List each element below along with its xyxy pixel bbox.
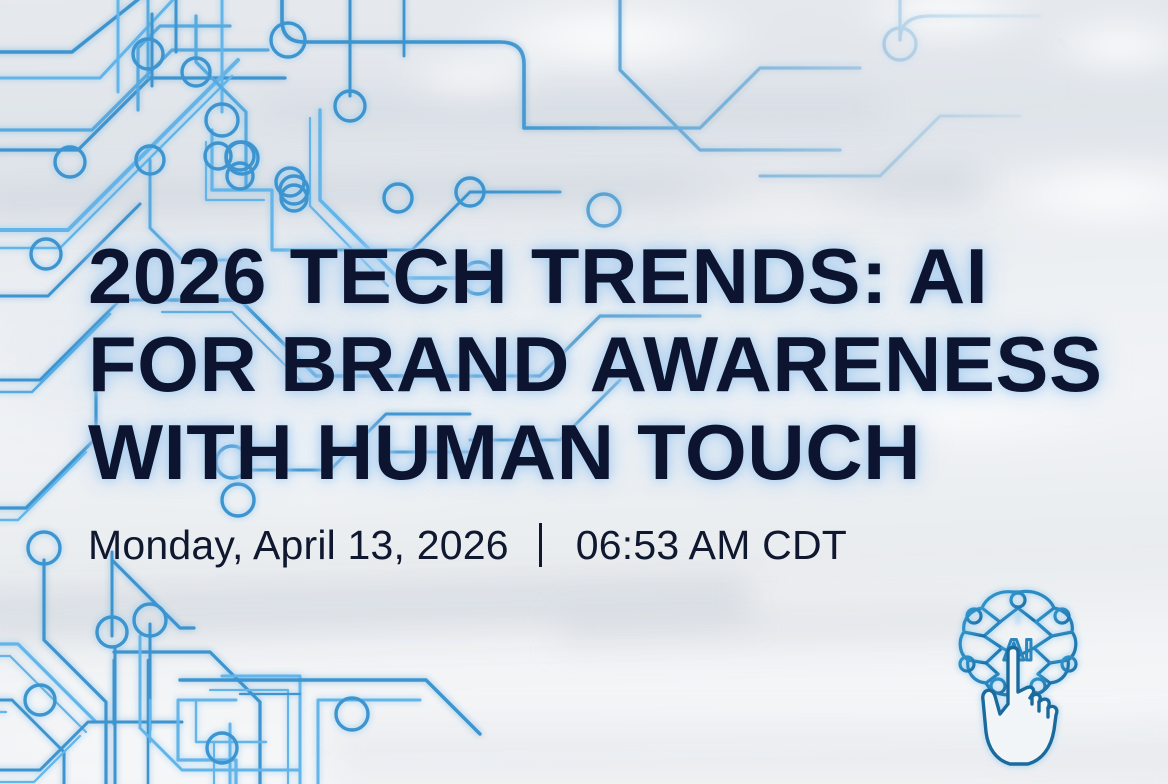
datetime-separator <box>539 523 542 567</box>
ai-brain-hand-icon: AI <box>950 578 1090 768</box>
tech-trends-banner: 2026 Tech Trends: AI For Brand Awareness… <box>0 0 1168 784</box>
headline-line-3: With Human Touch <box>88 408 1139 496</box>
banner-content: 2026 Tech Trends: AI For Brand Awareness… <box>88 232 1118 568</box>
datetime-line: Monday, April 13, 2026 06:53 AM CDT <box>88 522 1118 568</box>
date-text: Monday, April 13, 2026 <box>88 522 509 568</box>
headline-line-2: For Brand Awareness <box>88 320 1139 408</box>
page-title: 2026 Tech Trends: AI For Brand Awareness… <box>88 232 1139 496</box>
time-text: 06:53 AM CDT <box>576 522 847 568</box>
headline-line-1: 2026 Tech Trends: AI <box>88 232 1139 320</box>
